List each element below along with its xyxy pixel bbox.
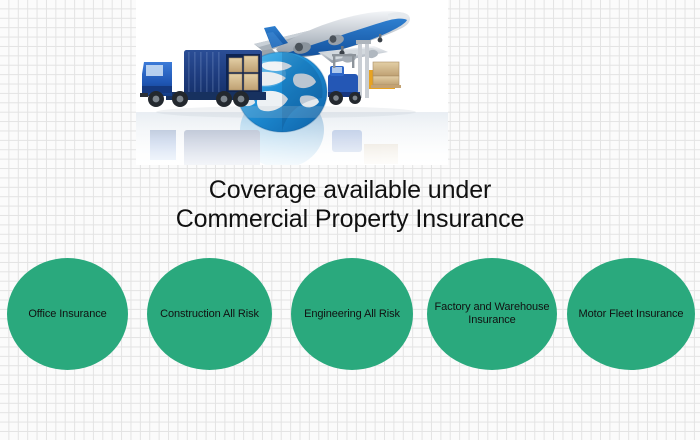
coverage-bubble-construction-all-risk[interactable]: Construction All Risk (147, 258, 272, 370)
coverage-label: Motor Fleet Insurance (567, 308, 695, 321)
title-line-1: Coverage available under (0, 176, 700, 205)
title-line-2: Commercial Property Insurance (0, 205, 700, 234)
coverage-circle-row: Office Insurance Construction All Risk E… (0, 252, 700, 377)
coverage-label: Factory and Warehouse Insurance (427, 301, 557, 327)
hero-image (136, 0, 448, 165)
coverage-label: Office Insurance (7, 308, 128, 321)
coverage-label: Engineering All Risk (291, 308, 413, 321)
coverage-bubble-motor-fleet-insurance[interactable]: Motor Fleet Insurance (567, 258, 695, 370)
coverage-bubble-engineering-all-risk[interactable]: Engineering All Risk (291, 258, 413, 370)
slide-canvas: Coverage available under Commercial Prop… (0, 0, 700, 440)
page-title: Coverage available under Commercial Prop… (0, 176, 700, 234)
logistics-illustration (136, 0, 448, 165)
coverage-bubble-factory-and-warehouse-insurance[interactable]: Factory and Warehouse Insurance (427, 258, 557, 370)
coverage-bubble-office-insurance[interactable]: Office Insurance (7, 258, 128, 370)
coverage-label: Construction All Risk (147, 308, 272, 321)
